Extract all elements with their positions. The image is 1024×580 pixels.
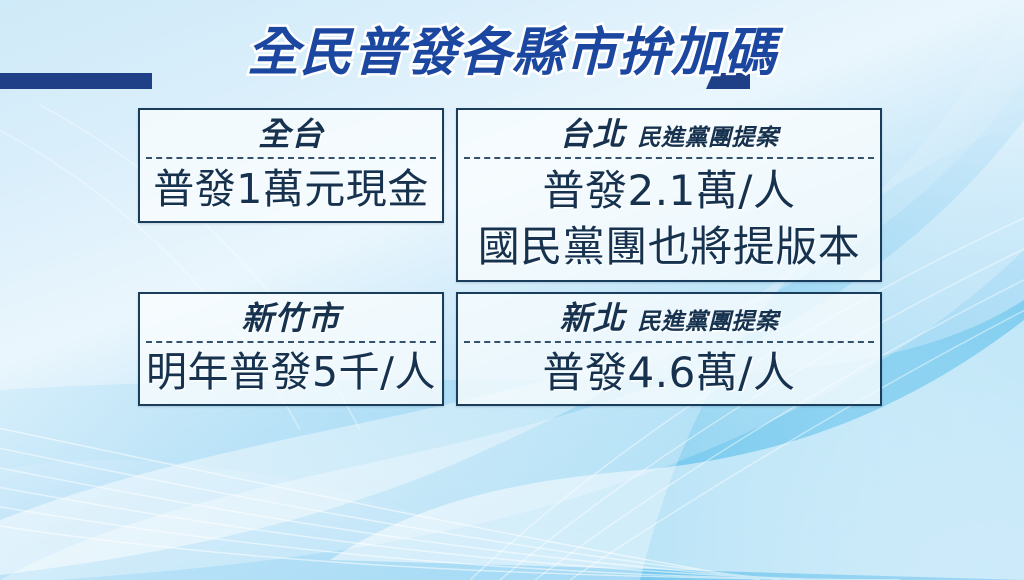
card-note: 民進黨團提案	[638, 122, 779, 154]
card-body: 明年普發5千/人	[140, 343, 442, 404]
card-body-line: 普發4.6萬/人	[543, 349, 796, 396]
card-header: 全台	[140, 110, 442, 157]
card-title: 台北	[559, 114, 625, 154]
card-header: 新竹市	[140, 294, 442, 341]
card-header: 台北 民進黨團提案	[458, 110, 880, 157]
card-body: 普發2.1萬/人 國民黨團也將提版本	[458, 159, 880, 280]
card-divider	[146, 157, 436, 159]
card-body-line: 明年普發5千/人	[146, 349, 436, 396]
background-decoration	[0, 0, 1024, 580]
card-divider	[464, 157, 874, 159]
card-hsinchu-city: 新竹市 明年普發5千/人	[138, 292, 444, 406]
card-divider	[146, 341, 436, 343]
card-title: 全台	[258, 114, 324, 154]
card-body-line: 普發2.1萬/人	[543, 163, 796, 219]
page-title: 全民普發各縣市拚加碼	[0, 22, 1024, 84]
card-header: 新北 民進黨團提案	[458, 294, 880, 341]
card-body-line: 國民黨團也將提版本	[478, 219, 861, 275]
card-divider	[464, 341, 874, 343]
card-title: 新北	[559, 298, 625, 338]
card-note: 民進黨團提案	[638, 306, 779, 338]
card-body: 普發1萬元現金	[140, 159, 442, 221]
card-title: 新竹市	[241, 298, 340, 338]
card-new-taipei: 新北 民進黨團提案 普發4.6萬/人	[456, 292, 882, 406]
card-body-line: 普發1萬元現金	[153, 166, 429, 213]
card-taipei: 台北 民進黨團提案 普發2.1萬/人 國民黨團也將提版本	[456, 108, 882, 282]
infographic-canvas: 全民普發各縣市拚加碼 全台 普發1萬元現金 台北 民進黨團提案 普發2.1萬/人…	[0, 0, 1024, 580]
card-all-taiwan: 全台 普發1萬元現金	[138, 108, 444, 223]
card-body: 普發4.6萬/人	[458, 343, 880, 404]
